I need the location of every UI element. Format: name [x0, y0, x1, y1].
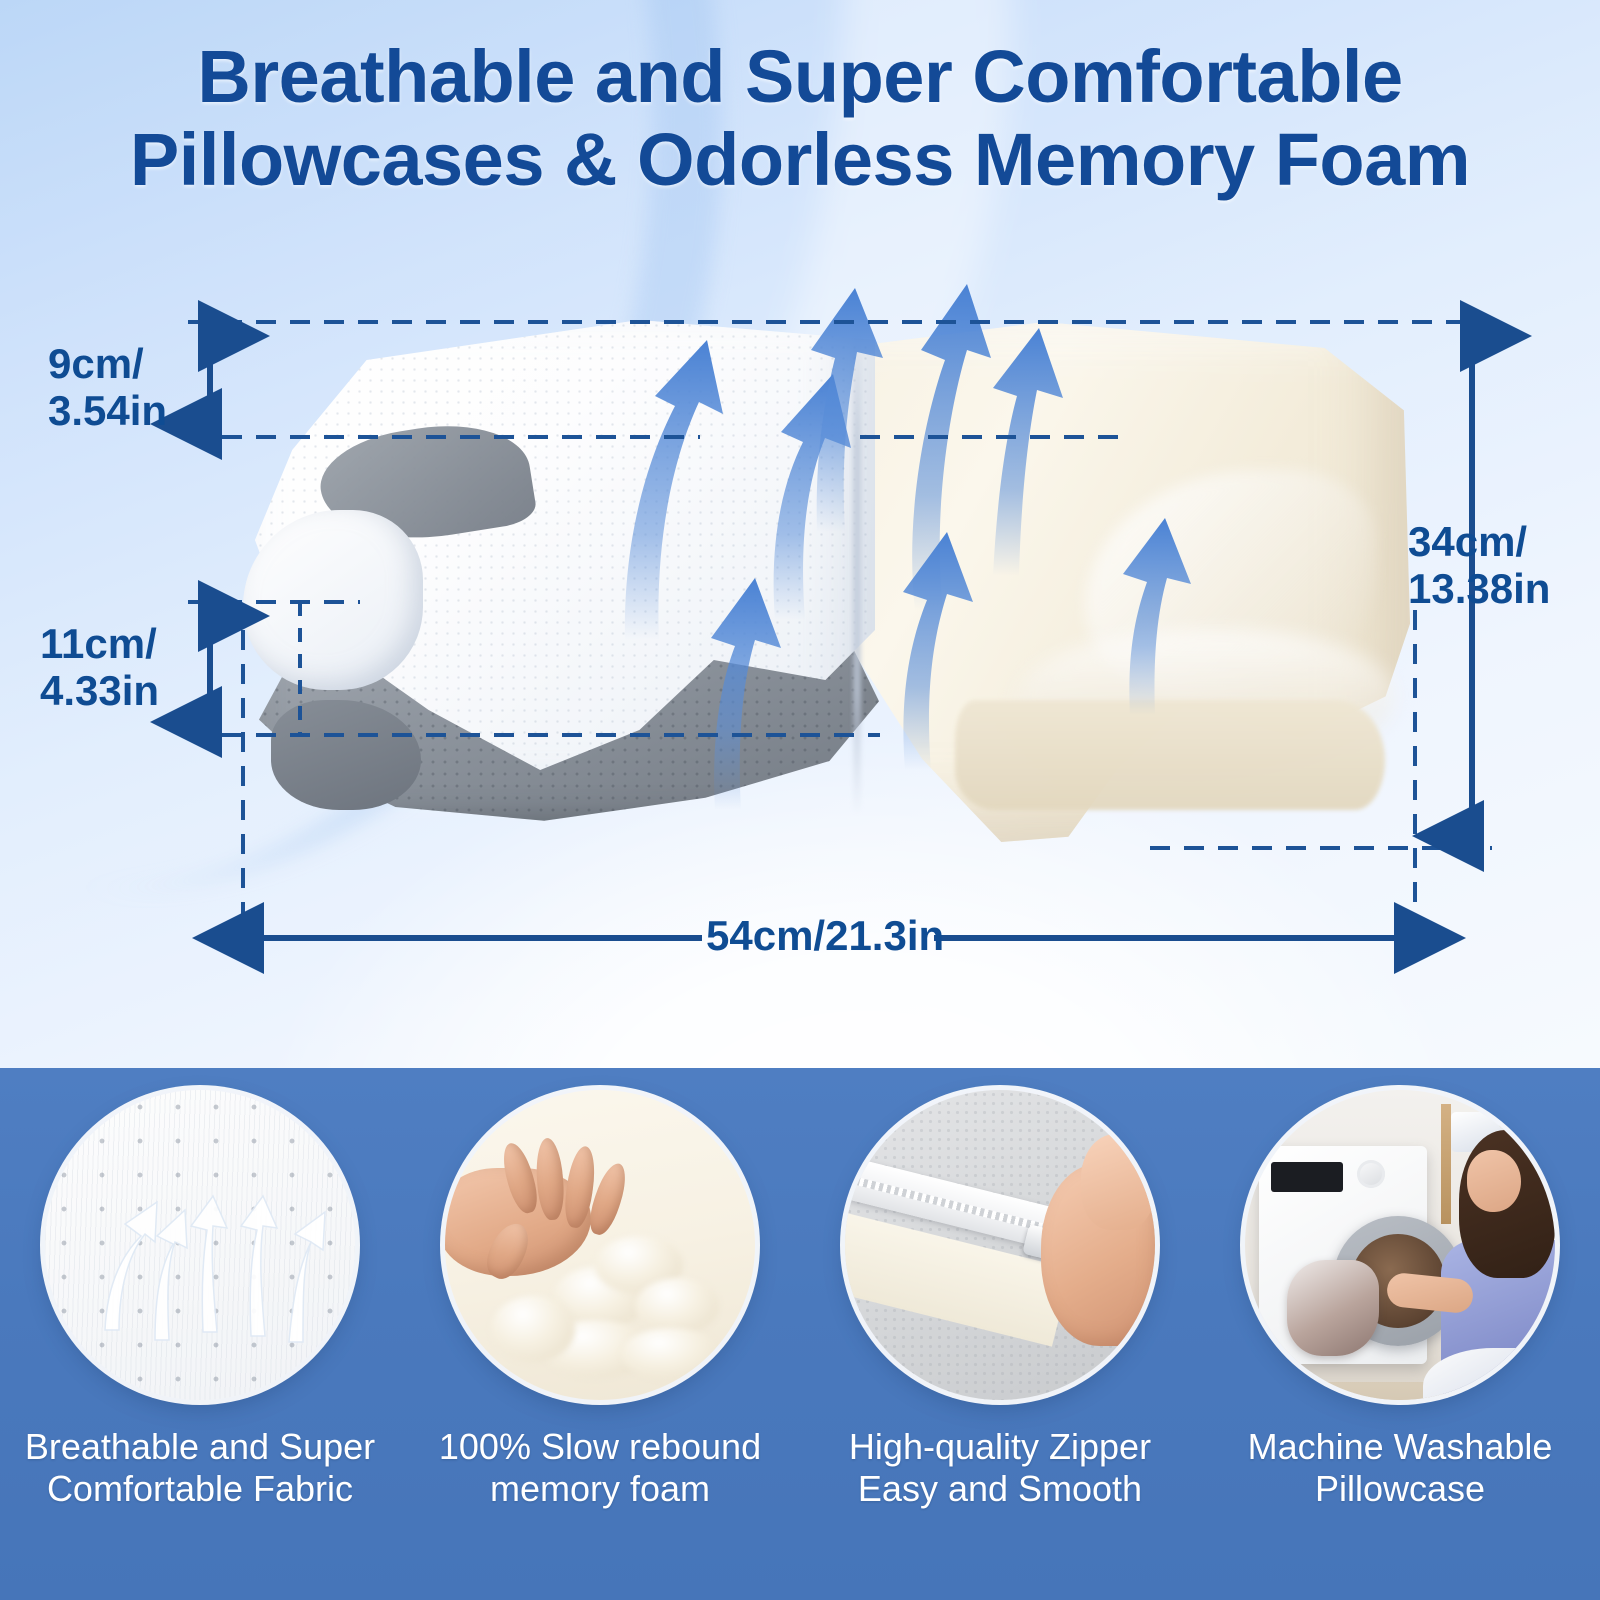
- dimension-label-11cm-line1: 11cm/: [40, 620, 157, 667]
- dimension-label-34cm-line1: 34cm/: [1408, 518, 1527, 565]
- feature-card-machine-washable[interactable]: Machine Washable Pillowcase: [1200, 1068, 1600, 1600]
- dimension-label-34cm: 34cm/ 13.38in: [1408, 518, 1550, 612]
- page-title: Breathable and Super Comfortable Pillowc…: [0, 36, 1600, 202]
- dimension-label-9cm: 9cm/ 3.54in: [48, 340, 167, 434]
- feature-card-zipper[interactable]: High-quality Zipper Easy and Smooth: [800, 1068, 1200, 1600]
- feature-caption-line1: High-quality Zipper: [810, 1426, 1190, 1468]
- features-panel: Breathable and Super Comfortable Fabric: [0, 1068, 1600, 1600]
- zipper-icon: [845, 1090, 1155, 1400]
- feature-caption-line2: Pillowcase: [1210, 1468, 1590, 1510]
- dimension-label-9cm-line2: 3.54in: [48, 387, 167, 434]
- breathable-fabric-icon: [45, 1090, 355, 1400]
- feature-caption-line1: Machine Washable: [1210, 1426, 1590, 1468]
- feature-caption: Machine Washable Pillowcase: [1210, 1426, 1590, 1510]
- feature-caption-line1: 100% Slow rebound: [410, 1426, 790, 1468]
- feature-card-list: Breathable and Super Comfortable Fabric: [0, 1068, 1600, 1600]
- feature-card-memory-foam[interactable]: 100% Slow rebound memory foam: [400, 1068, 800, 1600]
- dimension-label-34cm-line2: 13.38in: [1408, 565, 1550, 612]
- feature-caption: 100% Slow rebound memory foam: [410, 1426, 790, 1510]
- pillow-product-image: [255, 300, 1405, 860]
- dimension-label-11cm: 11cm/ 4.33in: [40, 620, 159, 714]
- feature-caption-line2: Comfortable Fabric: [10, 1468, 390, 1510]
- foam-imprint-bump: [621, 1328, 721, 1380]
- person-face: [1467, 1150, 1521, 1212]
- foam-imprint-bump: [635, 1278, 719, 1334]
- laundry-shelf-post: [1441, 1104, 1451, 1224]
- washing-machine-display: [1271, 1162, 1343, 1192]
- title-line-1: Breathable and Super Comfortable: [0, 36, 1600, 119]
- feature-card-breathable-fabric[interactable]: Breathable and Super Comfortable Fabric: [0, 1068, 400, 1600]
- foam-lower-lip: [955, 700, 1385, 810]
- hand-finger: [1081, 1134, 1155, 1230]
- memory-foam-icon: [445, 1090, 755, 1400]
- title-line-2: Pillowcases & Odorless Memory Foam: [0, 119, 1600, 202]
- product-hero-panel: Breathable and Super Comfortable Pillowc…: [0, 0, 1600, 1068]
- feature-caption: Breathable and Super Comfortable Fabric: [10, 1426, 390, 1510]
- dimension-label-11cm-line2: 4.33in: [40, 667, 159, 714]
- washing-machine-dial: [1357, 1160, 1385, 1188]
- dimension-label-54cm: 54cm/21.3in: [706, 912, 944, 959]
- pillowcase-foam-seam: [853, 324, 861, 814]
- fabric-airflow-arrows: [45, 1090, 355, 1400]
- washing-machine-icon: [1245, 1090, 1555, 1400]
- laundry-item: [1287, 1260, 1379, 1356]
- feature-caption: High-quality Zipper Easy and Smooth: [810, 1426, 1190, 1510]
- foam-imprint-bump: [491, 1296, 575, 1362]
- feature-caption-line2: Easy and Smooth: [810, 1468, 1190, 1510]
- infographic-page: Breathable and Super Comfortable Pillowc…: [0, 0, 1600, 1600]
- feature-caption-line1: Breathable and Super: [10, 1426, 390, 1468]
- feature-caption-line2: memory foam: [410, 1468, 790, 1510]
- dimension-label-9cm-line1: 9cm/: [48, 340, 144, 387]
